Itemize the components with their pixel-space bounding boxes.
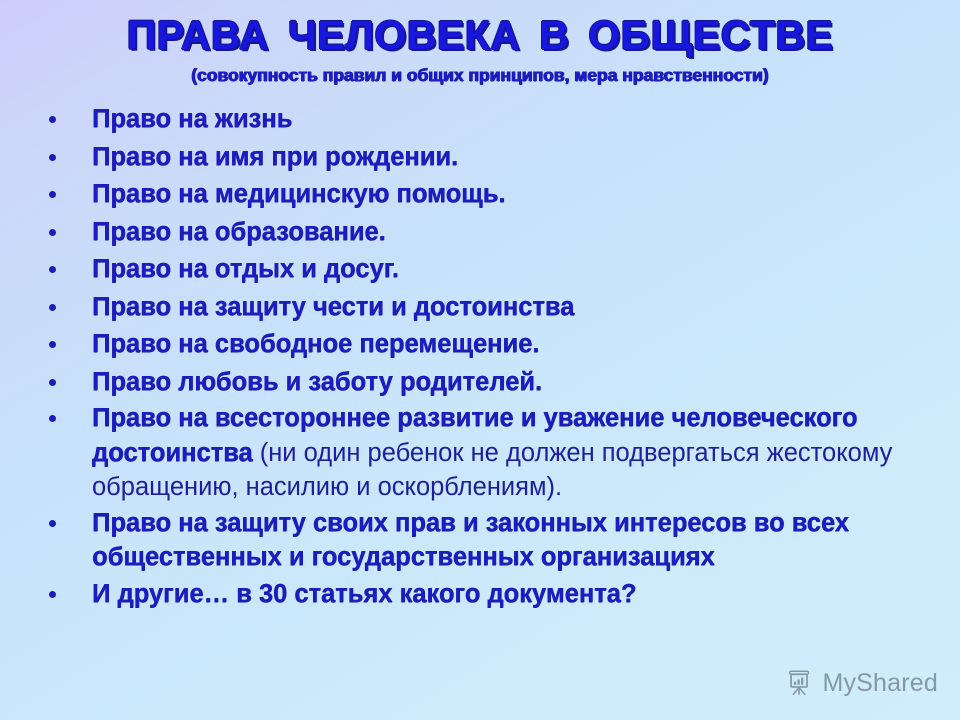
list-item-label: Право на жизнь	[92, 105, 292, 133]
page-title: ПРАВА ЧЕЛОВЕКА В ОБЩЕСТВЕ	[0, 12, 960, 58]
list-item-label: И другие… в 30 статьях какого документа?	[92, 580, 636, 608]
list-item: Право на защиту своих прав и законных ин…	[0, 506, 960, 575]
presentation-easel-icon	[785, 668, 815, 698]
list-item-label: Право на защиту чести и достоинства	[92, 293, 574, 321]
list-item-label: Право на защиту своих прав и законных ин…	[92, 509, 849, 572]
list-item: Право на защиту чести и достоинства	[0, 289, 960, 326]
list-item: Право на образование.	[0, 214, 960, 251]
bullet-dot-icon	[49, 379, 56, 386]
rights-bullet-list: Право на жизнь Право на имя при рождении…	[0, 101, 960, 612]
list-item: Право на жизнь	[0, 101, 960, 138]
list-item: Право на всестороннее развитие и уважени…	[0, 401, 960, 505]
list-item-label: Право на свободное перемещение.	[92, 330, 539, 358]
bullet-dot-icon	[49, 304, 56, 311]
bullet-dot-icon	[49, 266, 56, 273]
watermark-label: MyShared	[822, 669, 938, 698]
list-item: Право на медицинскую помощь.	[0, 176, 960, 213]
list-item: И другие… в 30 статьях какого документа?	[0, 576, 960, 613]
list-item-label: Право на образование.	[92, 218, 386, 246]
bullet-dot-icon	[49, 116, 56, 123]
list-item: Право на свободное перемещение.	[0, 326, 960, 363]
list-item: Право на отдых и досуг.	[0, 251, 960, 288]
bullet-dot-icon	[49, 591, 56, 598]
bullet-dot-icon	[49, 191, 56, 198]
list-item-label: Право на медицинскую помощь.	[92, 180, 505, 208]
list-item: Право любовь и заботу родителей.	[0, 364, 960, 401]
slide-canvas: ПРАВА ЧЕЛОВЕКА В ОБЩЕСТВЕ (совокупность …	[0, 0, 960, 720]
bullet-dot-icon	[49, 229, 56, 236]
bullet-dot-icon	[49, 520, 56, 527]
list-item-label: Право любовь и заботу родителей.	[92, 368, 542, 396]
title-block: ПРАВА ЧЕЛОВЕКА В ОБЩЕСТВЕ (совокупность …	[0, 0, 960, 87]
myshared-watermark: MyShared	[785, 668, 938, 698]
bullet-dot-icon	[49, 415, 56, 422]
bullet-dot-icon	[49, 154, 56, 161]
list-item: Право на имя при рождении.	[0, 139, 960, 176]
list-item-label: Право на имя при рождении.	[92, 143, 458, 171]
page-subtitle: (совокупность правил и общих принципов, …	[0, 63, 960, 87]
list-item-label: Право на отдых и досуг.	[92, 255, 399, 283]
bullet-dot-icon	[49, 341, 56, 348]
